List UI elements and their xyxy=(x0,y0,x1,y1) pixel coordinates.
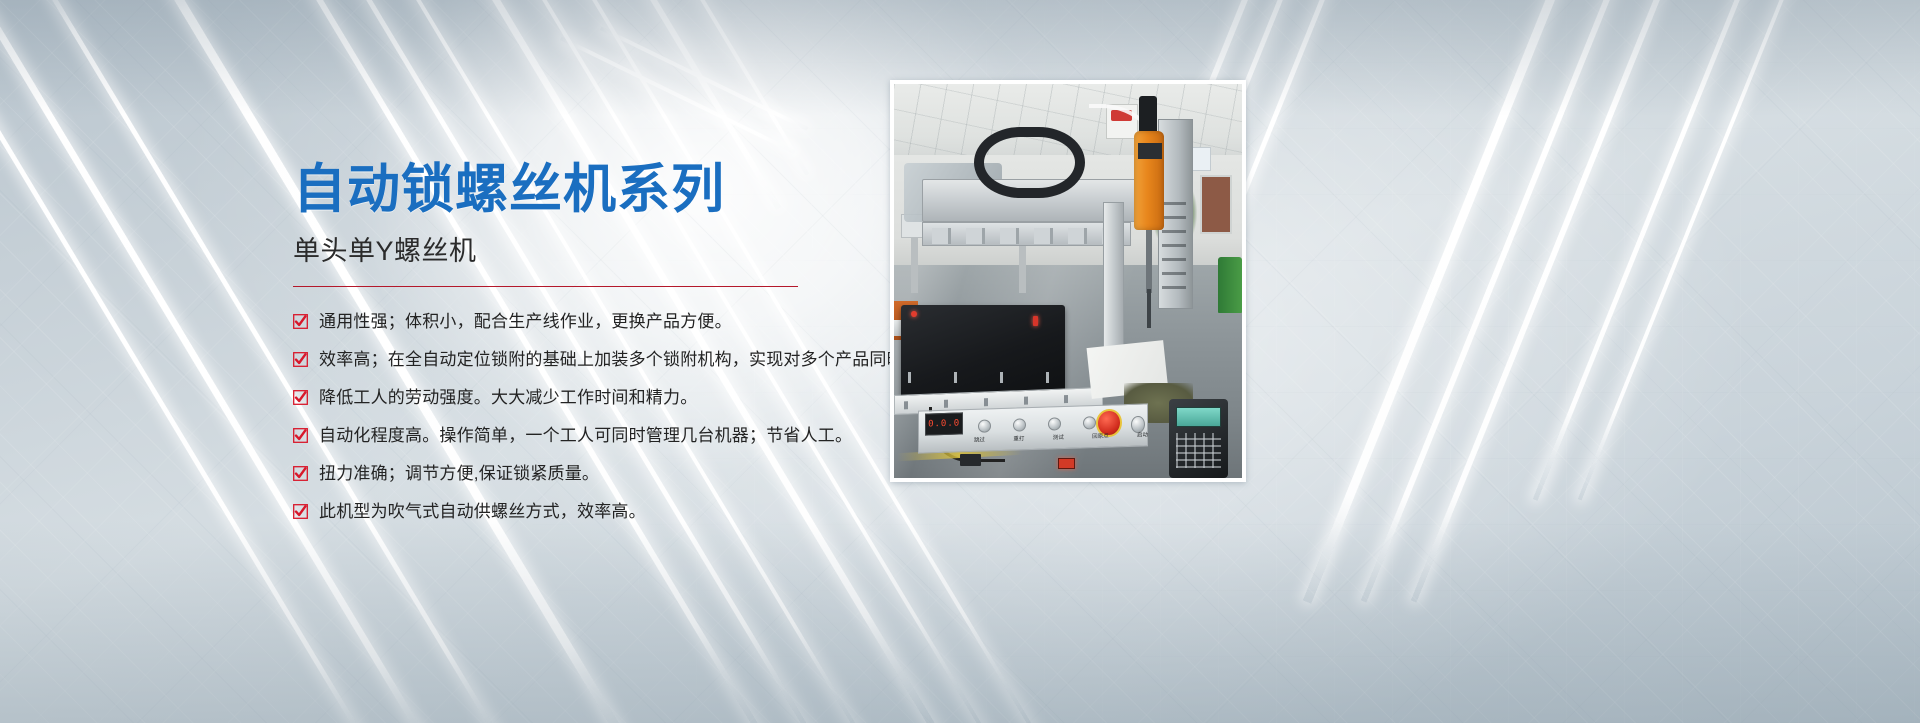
check-icon xyxy=(293,390,308,405)
photo-machine-foot xyxy=(960,454,981,466)
photo-black-feeder-unit xyxy=(901,305,1065,400)
list-item: 降低工人的劳动强度。大大减少工作时间和精力。 xyxy=(293,387,913,409)
photo-power-switch xyxy=(1058,458,1075,468)
photo-screwdriver-bit xyxy=(1147,289,1150,328)
page-title: 自动锁螺丝机系列 xyxy=(293,160,913,220)
photo-screwdriver-label xyxy=(1138,143,1162,159)
photo-button-label: 回原点 xyxy=(1092,432,1109,446)
photo-feeder-screws xyxy=(908,372,1054,384)
photo-panel-button xyxy=(1013,418,1026,431)
photo-panel-button xyxy=(1048,417,1061,430)
photo-gantry-mounting-blocks xyxy=(932,228,1113,245)
list-item-label: 此机型为吹气式自动供螺丝方式，效率高。 xyxy=(319,501,646,523)
photo-button-label: 重打 xyxy=(1013,434,1024,448)
list-item: 通用性强；体积小，配合生产线作业，更换产品方便。 xyxy=(293,311,913,333)
product-banner: 自动锁螺丝机系列 单头单Y螺丝机 通用性强；体积小，配合生产线作业，更换产品方便… xyxy=(0,0,1920,723)
photo-pendant-screen xyxy=(1176,407,1221,427)
photo-support-column xyxy=(1103,202,1124,367)
photo-rail-holes xyxy=(1162,202,1186,289)
photo-button-label: 启动 xyxy=(1137,430,1148,444)
photo-door xyxy=(1200,175,1231,234)
product-photo: 0.0.0 跳过 重打 测试 回原点 启动 xyxy=(894,84,1242,478)
photo-workbench-leg xyxy=(1019,238,1026,293)
photo-feeder-indicator-led xyxy=(1033,316,1038,325)
product-photo-frame: 0.0.0 跳过 重打 测试 回原点 启动 xyxy=(890,80,1246,482)
photo-screwdriver-shaft xyxy=(1146,230,1152,293)
photo-button-label: 测试 xyxy=(1053,433,1064,447)
photo-panel-button xyxy=(1083,416,1096,429)
photo-workbench-leg xyxy=(911,238,918,293)
check-icon xyxy=(293,428,308,443)
product-subtitle: 单头单Y螺丝机 xyxy=(293,234,913,268)
list-item-label: 效率高；在全自动定位锁附的基础上加装多个锁附机构，实现对多个产品同时锁附。 xyxy=(319,349,955,371)
photo-counter-value: 0.0.0 xyxy=(928,418,960,429)
photo-counter-display: 0.0.0 xyxy=(925,412,963,435)
photo-button-label: 跳过 xyxy=(974,435,985,449)
check-icon xyxy=(293,466,308,481)
feature-list: 通用性强；体积小，配合生产线作业，更换产品方便。 效率高；在全自动定位锁附的基础… xyxy=(293,311,913,523)
banner-copy: 自动锁螺丝机系列 单头单Y螺丝机 通用性强；体积小，配合生产线作业，更换产品方便… xyxy=(293,160,913,539)
list-item-label: 扭力准确；调节方便,保证锁紧质量。 xyxy=(319,463,599,485)
check-icon xyxy=(293,504,308,519)
photo-trash-bin xyxy=(1218,257,1242,312)
list-item: 此机型为吹气式自动供螺丝方式，效率高。 xyxy=(293,501,913,523)
list-item: 自动化程度高。操作简单，一个工人可同时管理几台机器；节省人工。 xyxy=(293,425,913,447)
photo-pendant-keypad xyxy=(1176,433,1221,468)
list-item: 效率高；在全自动定位锁附的基础上加装多个锁附机构，实现对多个产品同时锁附。 xyxy=(293,349,913,371)
photo-panel-button xyxy=(978,419,991,432)
check-icon xyxy=(293,352,308,367)
list-item-label: 通用性强；体积小，配合生产线作业，更换产品方便。 xyxy=(319,311,732,333)
check-icon xyxy=(293,314,308,329)
list-item-label: 自动化程度高。操作简单，一个工人可同时管理几台机器；节省人工。 xyxy=(319,425,852,447)
list-item: 扭力准确；调节方便,保证锁紧质量。 xyxy=(293,463,913,485)
photo-cable-carrier-loop xyxy=(974,127,1085,198)
list-item-label: 降低工人的劳动强度。大大减少工作时间和精力。 xyxy=(319,387,697,409)
title-divider xyxy=(293,286,798,287)
